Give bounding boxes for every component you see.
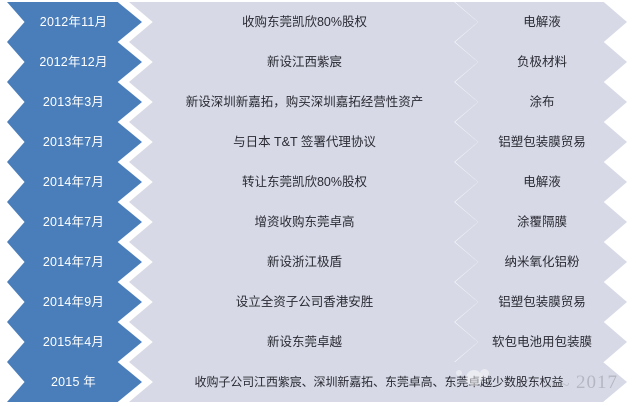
row-category-label: 电解液 [523,176,561,189]
row-category-chevron: 电解液 [455,2,627,42]
row-date-chevron: 2014年7月 [7,242,142,282]
row-event-chevron: 新设浙江极盾 [129,242,478,282]
row-date-label: 2014年7月 [43,176,104,189]
row-category-label: 软包电池用包装膜 [492,336,592,349]
timeline-row: 2012年11月 收购东莞凯欣80%股权 电解液 [0,2,636,42]
timeline-row: 2015 年 收购子公司江西紫宸、深圳新嘉拓、东莞卓高、东莞卓越少数股东权益 [0,362,636,402]
row-date-label: 2015年4月 [43,336,104,349]
row-category-chevron: 负极材料 [455,42,627,82]
row-event-chevron: 设立全资子公司香港安胜 [129,282,478,322]
row-date-chevron: 2013年3月 [7,82,142,122]
row-event-label: 新设浙江极盾 [267,256,342,269]
row-date-chevron: 2015 年 [7,362,142,402]
row-event-label: 增资收购东莞卓高 [254,216,354,229]
row-event-chevron: 新设江西紫宸 [129,42,478,82]
timeline-row: 2012年12月 新设江西紫宸 负极材料 [0,42,636,82]
row-date-chevron: 2014年7月 [7,162,142,202]
timeline-row: 2014年9月 设立全资子公司香港安胜 铝塑包装膜贸易 [0,282,636,322]
row-event-label: 新设深圳新嘉拓，购买深圳嘉拓经营性资产 [186,96,424,109]
row-date-chevron: 2013年7月 [7,122,142,162]
timeline-row: 2014年7月 增资收购东莞卓高 涂覆隔膜 [0,202,636,242]
row-event-label: 新设江西紫宸 [267,56,342,69]
row-event-chevron: 与日本 T&T 签署代理协议 [129,122,478,162]
timeline-row: 2013年7月 与日本 T&T 签署代理协议 铝塑包装膜贸易 [0,122,636,162]
timeline-row: 2014年7月 新设浙江极盾 纳米氧化铝粉 [0,242,636,282]
row-category-label: 铝塑包装膜贸易 [498,296,586,309]
row-category-label: 电解液 [523,16,561,29]
row-category-label: 铝塑包装膜贸易 [498,136,586,149]
row-date-label: 2014年7月 [43,256,104,269]
row-category-chevron: 涂布 [455,82,627,122]
row-date-label: 2013年3月 [43,96,104,109]
row-event-chevron: 收购东莞凯欣80%股权 [129,2,478,42]
row-category-chevron: 涂覆隔膜 [455,202,627,242]
row-event-label: 新设东莞卓越 [267,336,342,349]
row-category-label: 纳米氧化铝粉 [504,256,579,269]
row-date-chevron: 2014年7月 [7,202,142,242]
row-event-chevron: 收购子公司江西紫宸、深圳新嘉拓、东莞卓高、东莞卓越少数股东权益 [129,362,627,402]
row-category-chevron: 电解液 [455,162,627,202]
row-event-label: 转让东莞凯欣80%股权 [242,176,367,189]
row-date-chevron: 2014年9月 [7,282,142,322]
row-event-label: 设立全资子公司香港安胜 [236,296,374,309]
row-date-chevron: 2015年4月 [7,322,142,362]
row-date-label: 2014年7月 [43,216,104,229]
row-date-label: 2012年12月 [39,56,107,69]
row-date-label: 2015 年 [51,376,96,389]
row-date-label: 2013年7月 [43,136,104,149]
row-date-chevron: 2012年11月 [7,2,142,42]
row-event-label: 收购东莞凯欣80%股权 [242,16,367,29]
row-category-chevron: 铝塑包装膜贸易 [455,122,627,162]
row-event-label: 与日本 T&T 签署代理协议 [233,136,376,149]
row-category-chevron: 纳米氧化铝粉 [455,242,627,282]
row-event-chevron: 增资收购东莞卓高 [129,202,478,242]
row-category-label: 涂覆隔膜 [517,216,567,229]
timeline-row: 2014年7月 转让东莞凯欣80%股权 电解液 [0,162,636,202]
row-category-chevron: 软包电池用包装膜 [455,322,627,362]
row-date-label: 2014年9月 [43,296,104,309]
row-category-label: 涂布 [529,96,554,109]
row-date-chevron: 2012年12月 [7,42,142,82]
row-date-label: 2012年11月 [40,16,107,29]
row-event-label: 收购子公司江西紫宸、深圳新嘉拓、东莞卓高、东莞卓越少数股东权益 [195,376,564,388]
timeline-row: 2015年4月 新设东莞卓越 软包电池用包装膜 [0,322,636,362]
timeline-chevron-diagram: 2012年11月 收购东莞凯欣80%股权 电解液 2012年12月 新设江西紫宸… [0,0,636,406]
row-event-chevron: 新设东莞卓越 [129,322,478,362]
row-event-chevron: 新设深圳新嘉拓，购买深圳嘉拓经营性资产 [129,82,478,122]
row-category-chevron: 铝塑包装膜贸易 [455,282,627,322]
row-category-label: 负极材料 [517,56,567,69]
timeline-row: 2013年3月 新设深圳新嘉拓，购买深圳嘉拓经营性资产 涂布 [0,82,636,122]
row-event-chevron: 转让东莞凯欣80%股权 [129,162,478,202]
